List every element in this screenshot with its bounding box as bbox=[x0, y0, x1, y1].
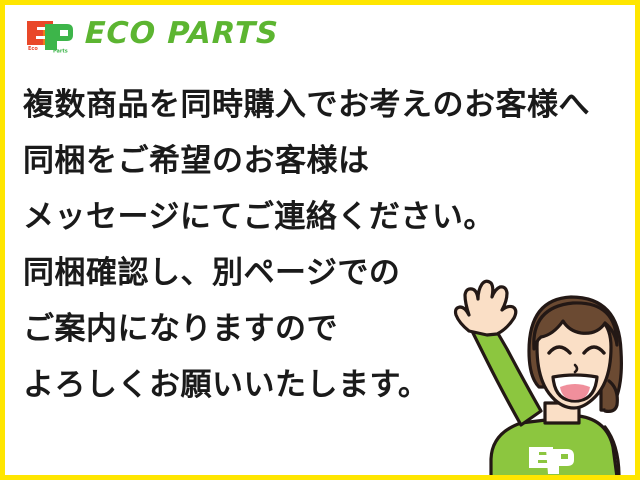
message-line: メッセージにてご連絡ください。 bbox=[23, 189, 623, 245]
svg-text:Eco: Eco bbox=[28, 46, 38, 52]
message-line: 同梱をご希望のお客様は bbox=[23, 133, 623, 189]
brand-name: ECO PARTS bbox=[84, 19, 279, 49]
message-line: よろしくお願いいたします。 bbox=[23, 357, 623, 413]
banner-header: Eco Parts ECO PARTS bbox=[5, 5, 635, 63]
shirt-ep-logo-icon bbox=[529, 447, 574, 474]
message-line: ご案内になりますので bbox=[23, 301, 623, 357]
svg-text:Parts: Parts bbox=[53, 49, 68, 54]
eco-parts-notice-banner: Eco Parts ECO PARTS 複数商品を同時購入でお考えのお客様へ 同… bbox=[0, 0, 640, 480]
ep-monogram-logo-icon: Eco Parts bbox=[23, 15, 75, 53]
message-line: 同梱確認し、別ページでの bbox=[23, 245, 623, 301]
notice-message: 複数商品を同時購入でお考えのお客様へ 同梱をご希望のお客様は メッセージにてご連… bbox=[23, 77, 623, 413]
message-line: 複数商品を同時購入でお考えのお客様へ bbox=[23, 77, 623, 133]
